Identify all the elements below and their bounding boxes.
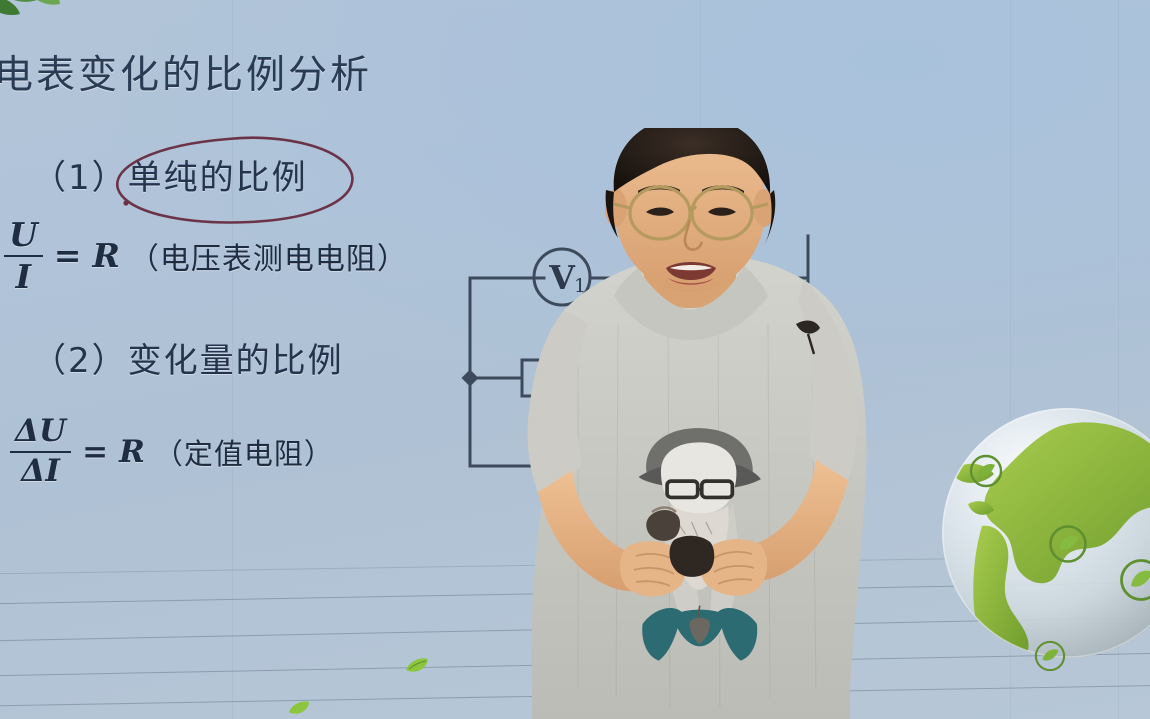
fraction-denominator: ΔI xyxy=(16,456,65,488)
presenter-figure xyxy=(468,128,918,719)
leaf-icon xyxy=(287,700,311,717)
equals-sign: = xyxy=(80,434,110,470)
leaf-icon xyxy=(0,0,106,48)
formula-1: U I = R （电压表测电电阻） xyxy=(4,218,408,293)
formula-1-note: （电压表测电电阻） xyxy=(129,234,408,278)
slide-item-2-label: （2）变化量的比例 xyxy=(32,333,344,382)
fraction-u-over-i: U I xyxy=(4,218,43,293)
resistance-symbol: R xyxy=(119,434,145,470)
page-title: 电表变化的比例分析 xyxy=(0,44,372,100)
resistance-symbol: R xyxy=(92,236,119,275)
formula-2-note: （定值电阻） xyxy=(154,431,334,473)
slide-item-1-label: （1）单纯的比例 xyxy=(32,150,308,199)
fraction-numerator: ΔU xyxy=(10,416,71,448)
formula-2: ΔU ΔI = R （定值电阻） xyxy=(10,416,334,487)
globe-graphic xyxy=(942,408,1150,658)
leaf-icon xyxy=(404,657,430,675)
fraction-denominator: I xyxy=(11,260,36,294)
fraction-numerator: U xyxy=(4,218,43,252)
video-frame: V 1 电表变化的比例分析 （1）单纯的比例 U I = R （电压表测电电阻）… xyxy=(0,0,1150,719)
equals-sign: = xyxy=(52,236,84,275)
fraction-du-over-di: ΔU ΔI xyxy=(10,416,71,487)
